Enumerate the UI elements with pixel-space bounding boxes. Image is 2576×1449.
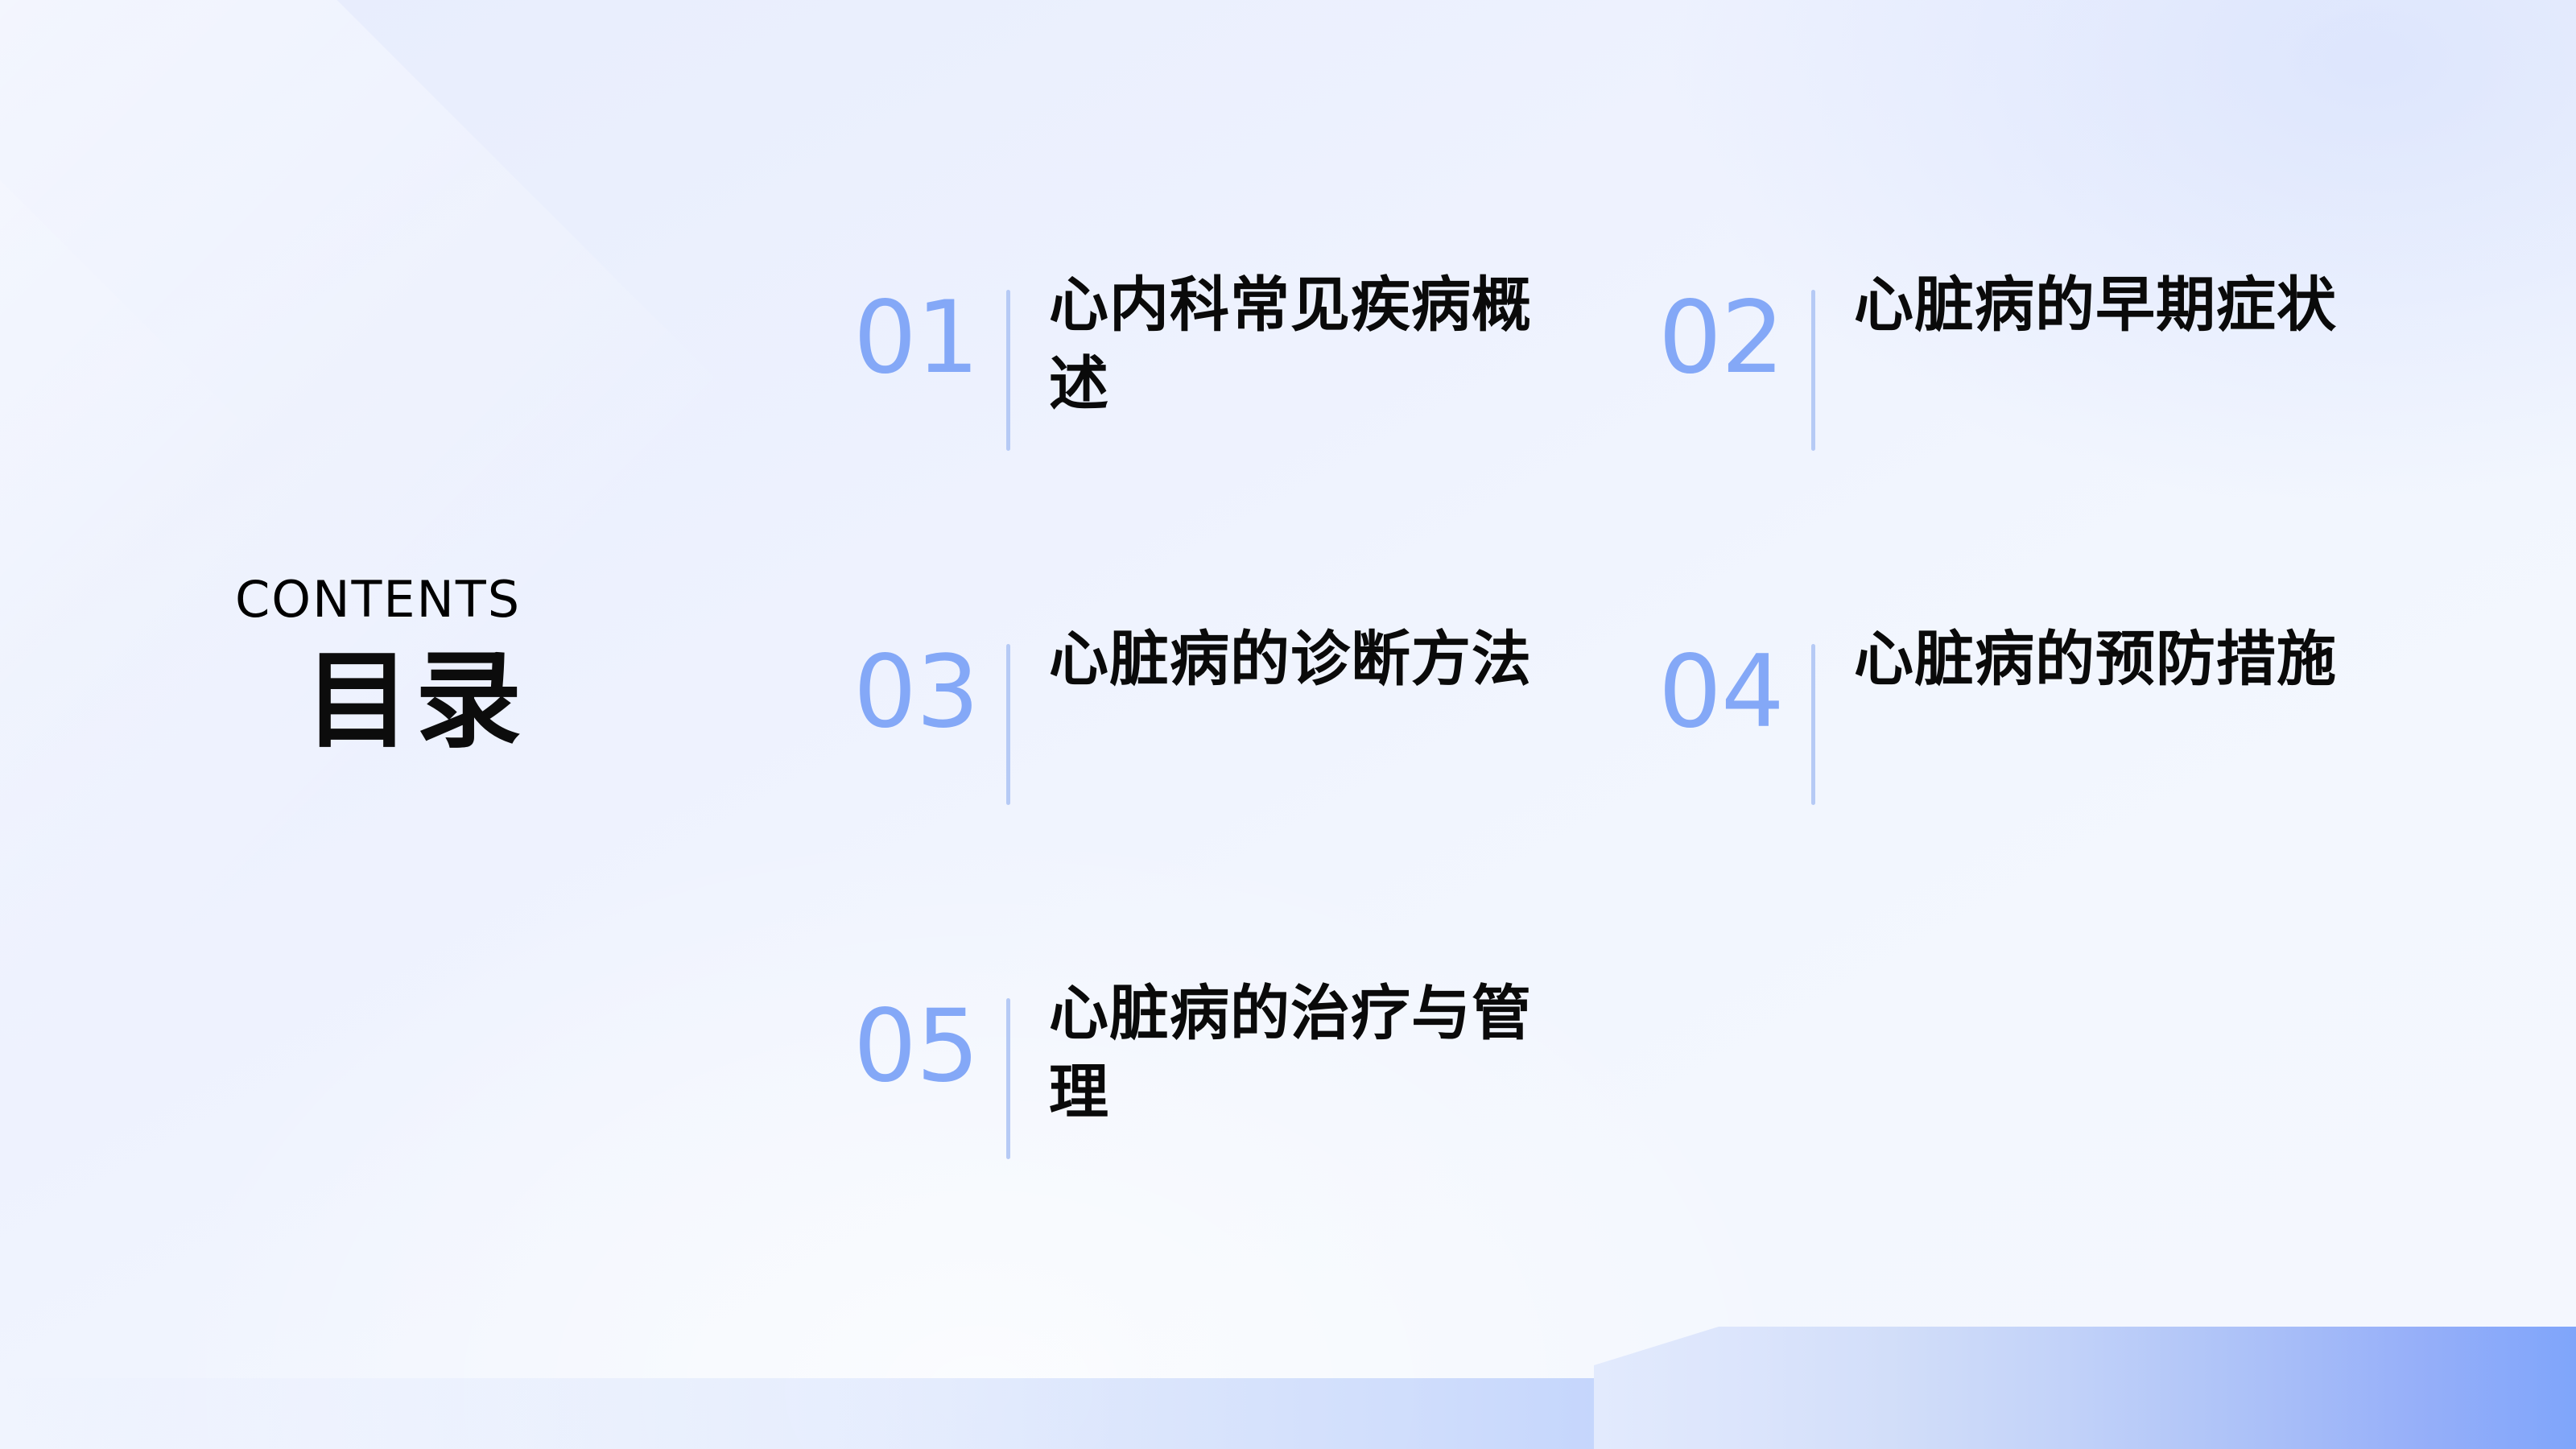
toc-item-02[interactable]: 02 心脏病的早期症状 (1658, 266, 2463, 443)
title-english: CONTENTS (235, 573, 750, 625)
toc-label-04: 心脏病的预防措施 (1854, 620, 2337, 699)
toc-number-05: 05 (853, 974, 1006, 1096)
toc-label-03: 心脏病的诊断方法 (1049, 620, 1532, 699)
toc-label-02: 心脏病的早期症状 (1854, 266, 2337, 345)
bottom-upper-decoration-band (1594, 1327, 2576, 1449)
bottom-lower-decoration-band (0, 1378, 2576, 1449)
table-of-contents-grid: 01 心内科常见疾病概述 02 心脏病的早期症状 03 心脏病的诊断方法 04 … (853, 266, 2512, 1151)
top-left-diagonal-band (0, 0, 753, 1099)
title-chinese: 目录 (304, 648, 750, 754)
toc-divider-05 (1006, 998, 1010, 1159)
toc-item-01[interactable]: 01 心内科常见疾病概述 (853, 266, 1658, 443)
title-block: CONTENTS 目录 (235, 573, 750, 754)
toc-number-04: 04 (1658, 620, 1811, 742)
toc-number-03: 03 (853, 620, 1006, 742)
slide-canvas: CONTENTS 目录 01 心内科常见疾病概述 02 心脏病的早期症状 03 … (0, 0, 2576, 1449)
toc-item-05[interactable]: 05 心脏病的治疗与管理 (853, 974, 1658, 1151)
toc-item-03[interactable]: 03 心脏病的诊断方法 (853, 620, 1658, 797)
toc-divider-01 (1006, 290, 1010, 451)
toc-divider-03 (1006, 644, 1010, 805)
top-left-diagonal-band-secondary (0, 0, 313, 1005)
toc-number-01: 01 (853, 266, 1006, 388)
toc-divider-02 (1811, 290, 1815, 451)
toc-label-05: 心脏病的治疗与管理 (1049, 974, 1532, 1133)
toc-number-02: 02 (1658, 266, 1811, 388)
toc-divider-04 (1811, 644, 1815, 805)
toc-item-04[interactable]: 04 心脏病的预防措施 (1658, 620, 2463, 797)
toc-label-01: 心内科常见疾病概述 (1049, 266, 1532, 424)
